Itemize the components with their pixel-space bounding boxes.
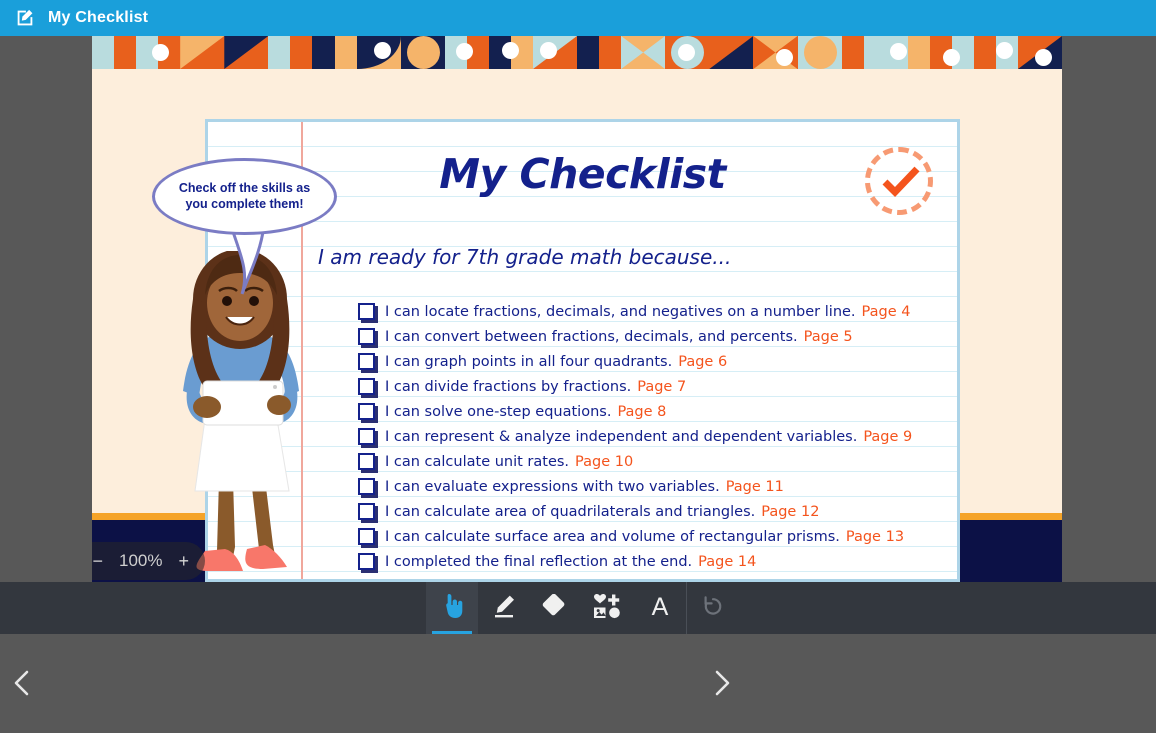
zoom-out-button[interactable]: −	[92, 552, 103, 570]
band-tile	[136, 36, 180, 69]
checklist-item-page-ref: Page 4	[862, 304, 911, 320]
zoom-level-value: 100%	[119, 551, 162, 571]
checklist-item[interactable]: I can graph points in all four quadrants…	[358, 349, 958, 374]
slide-filmstrip: Are You Ready for 7th Grade Math? By Exa…	[0, 634, 1156, 733]
band-tile	[312, 36, 356, 69]
band-tile	[577, 36, 621, 69]
band-tile	[268, 36, 312, 69]
text-tool[interactable]: A	[634, 582, 686, 634]
band-tile	[621, 36, 665, 69]
chevron-left-icon[interactable]	[8, 668, 38, 698]
checklist-item-text: I can calculate unit rates.	[385, 454, 569, 470]
slide-canvas[interactable]: My Checklist I am ready for 7th grade ma…	[92, 36, 1062, 582]
checkbox[interactable]	[358, 353, 375, 370]
band-dot	[152, 44, 169, 61]
checklist-item-text: I can calculate surface area and volume …	[385, 529, 840, 545]
band-dot	[540, 42, 557, 59]
checkbox[interactable]	[358, 528, 375, 545]
checklist-item[interactable]: I completed the final reflection at the …	[358, 549, 958, 574]
checklist-item[interactable]: I can calculate area of quadrilaterals a…	[358, 499, 958, 524]
checklist-item[interactable]: I can locate fractions, decimals, and ne…	[358, 299, 958, 324]
checklist-item-text: I can calculate area of quadrilaterals a…	[385, 504, 755, 520]
checkbox[interactable]	[358, 503, 375, 520]
pencil-icon	[491, 593, 517, 624]
checklist-item-page-ref: Page 9	[863, 429, 912, 445]
checklist-item-text: I can graph points in all four quadrants…	[385, 354, 672, 370]
band-tile	[445, 36, 489, 69]
checklist-item[interactable]: I can calculate unit rates.Page 10	[358, 449, 958, 474]
band-dot	[890, 43, 907, 60]
band-tile	[798, 36, 842, 69]
band-tile	[489, 36, 533, 69]
band-tile	[974, 36, 1018, 69]
editor-toolbar: A	[0, 582, 1156, 634]
checkbox[interactable]	[358, 303, 375, 320]
band-tile	[930, 36, 974, 69]
checklist-item-page-ref: Page 12	[761, 504, 819, 520]
checkbox[interactable]	[358, 553, 375, 570]
hand-pointer-icon	[441, 593, 463, 624]
orange-check-circle-icon	[865, 147, 933, 215]
checklist-item[interactable]: I can calculate surface area and volume …	[358, 524, 958, 549]
speech-bubble: Check off the skills as you complete the…	[152, 158, 337, 235]
pen-tool[interactable]	[478, 582, 530, 634]
checklist: I can locate fractions, decimals, and ne…	[358, 299, 958, 574]
band-tile	[753, 36, 797, 69]
checklist-item-text: I can solve one-step equations.	[385, 404, 611, 420]
band-dot	[996, 42, 1013, 59]
band-dot	[943, 49, 960, 66]
band-tile	[180, 36, 224, 69]
undo-tool[interactable]	[686, 582, 738, 634]
rule-line	[208, 146, 957, 147]
checklist-item-page-ref: Page 13	[846, 529, 904, 545]
checklist-item-text: I completed the final reflection at the …	[385, 554, 692, 570]
band-tile	[1018, 36, 1062, 69]
eraser-tool[interactable]	[530, 582, 582, 634]
band-tile	[665, 36, 709, 69]
checklist-item-text: I can represent & analyze independent an…	[385, 429, 857, 445]
checklist-item-text: I can convert between fractions, decimal…	[385, 329, 798, 345]
checklist-item-page-ref: Page 8	[617, 404, 666, 420]
app-header: My Checklist	[0, 0, 1156, 36]
rule-line	[208, 221, 957, 222]
band-tile	[224, 36, 268, 69]
checklist-item-text: I can evaluate expressions with two vari…	[385, 479, 720, 495]
checkbox[interactable]	[358, 328, 375, 345]
checklist-item-page-ref: Page 5	[804, 329, 853, 345]
checklist-item[interactable]: I can convert between fractions, decimal…	[358, 324, 958, 349]
band-tile	[401, 36, 445, 69]
add-content-tool[interactable]	[582, 582, 634, 634]
decorative-top-band	[92, 36, 1062, 69]
zoom-in-button[interactable]: +	[178, 552, 189, 570]
worksheet-subtitle: I am ready for 7th grade math because...	[318, 245, 731, 269]
chevron-right-icon[interactable]	[706, 668, 736, 698]
band-dot	[456, 43, 473, 60]
select-pointer-tool[interactable]	[426, 582, 478, 634]
svg-text:A: A	[652, 593, 669, 619]
checklist-item[interactable]: I can evaluate expressions with two vari…	[358, 474, 958, 499]
zoom-control[interactable]: − 100% +	[92, 542, 205, 580]
band-tile	[92, 36, 136, 69]
checklist-item-text: I can divide fractions by fractions.	[385, 379, 631, 395]
edit-square-icon	[14, 7, 36, 29]
checklist-item-page-ref: Page 14	[698, 554, 756, 570]
eraser-icon	[542, 594, 570, 623]
checklist-item-text: I can locate fractions, decimals, and ne…	[385, 304, 856, 320]
add-sticker-icon	[593, 593, 623, 624]
checkbox[interactable]	[358, 428, 375, 445]
band-dot	[502, 42, 519, 59]
checkbox[interactable]	[358, 378, 375, 395]
checklist-item-page-ref: Page 10	[575, 454, 633, 470]
band-tile	[842, 36, 886, 69]
tool-group: A	[426, 582, 738, 634]
checklist-item-page-ref: Page 7	[637, 379, 686, 395]
speech-bubble-text: Check off the skills as you complete the…	[155, 181, 334, 212]
checklist-item[interactable]: I can solve one-step equations.Page 8	[358, 399, 958, 424]
band-tile	[709, 36, 753, 69]
band-dot	[1035, 49, 1052, 66]
band-tile	[886, 36, 930, 69]
checklist-item-page-ref: Page 11	[726, 479, 784, 495]
checkbox[interactable]	[358, 453, 375, 470]
undo-arrow-icon	[701, 594, 725, 623]
checklist-item-page-ref: Page 6	[678, 354, 727, 370]
checkbox[interactable]	[358, 478, 375, 495]
checklist-item[interactable]: I can divide fractions by fractions.Page…	[358, 374, 958, 399]
text-a-icon: A	[648, 593, 672, 624]
checkbox[interactable]	[358, 403, 375, 420]
band-tile	[357, 36, 401, 69]
app-title: My Checklist	[48, 9, 148, 27]
band-tile	[533, 36, 577, 69]
checklist-item[interactable]: I can represent & analyze independent an…	[358, 424, 958, 449]
canvas-stage[interactable]: My Checklist I am ready for 7th grade ma…	[0, 36, 1156, 582]
